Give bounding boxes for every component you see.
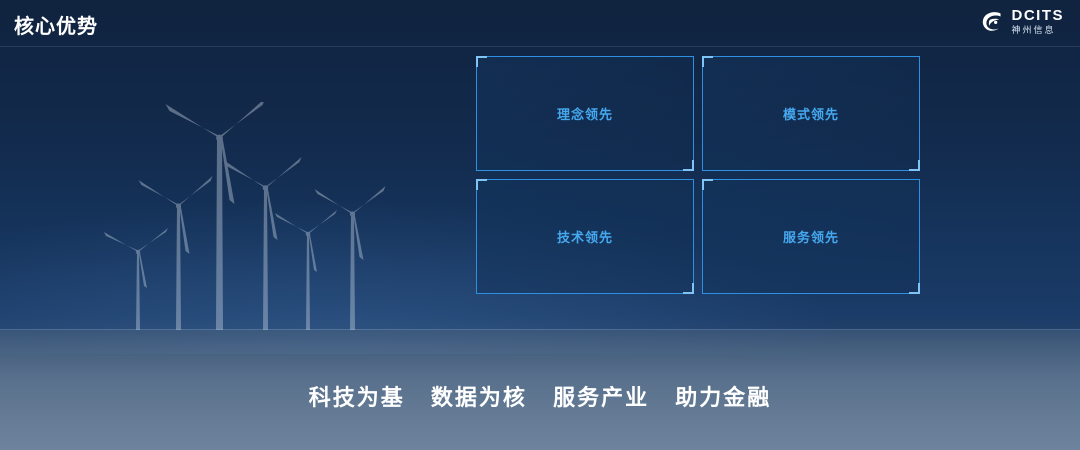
advantage-card-2[interactable]: 模式领先: [702, 56, 920, 171]
title-divider: [0, 46, 1080, 47]
advantage-card-2-label: 模式领先: [783, 104, 839, 123]
page-title: 核心优势: [14, 10, 98, 39]
slogan-part-4: 助力金融: [675, 385, 771, 410]
footer-slogan: 科技为基 数据为核 服务产业 助力金融: [0, 380, 1080, 412]
advantage-card-grid: 理念领先 模式领先 技术领先 服务领先: [476, 56, 920, 294]
slogan-part-2: 数据为核: [431, 385, 527, 410]
advantage-card-4[interactable]: 服务领先: [702, 179, 920, 294]
slogan-part-3: 服务产业: [553, 385, 649, 410]
dcits-swoosh-icon: [979, 9, 1005, 35]
slogan-part-1: 科技为基: [309, 385, 405, 410]
advantage-card-4-label: 服务领先: [783, 227, 839, 246]
wind-turbine-illustration: [100, 102, 440, 332]
logo-cn-text: 神州信息: [1012, 26, 1065, 35]
advantage-card-3[interactable]: 技术领先: [476, 179, 694, 294]
advantage-card-3-label: 技术领先: [557, 227, 613, 246]
advantage-card-1[interactable]: 理念领先: [476, 56, 694, 171]
brand-logo: DCITS 神州信息: [979, 8, 1065, 35]
slide-canvas: 核心优势 DCITS 神州信息 理念领先 模式领先 技术领先 服务领先 科技为基…: [0, 0, 1080, 450]
logo-wordmark: DCITS 神州信息: [1012, 8, 1065, 35]
advantage-card-1-label: 理念领先: [557, 104, 613, 123]
logo-en-text: DCITS: [1012, 8, 1065, 23]
